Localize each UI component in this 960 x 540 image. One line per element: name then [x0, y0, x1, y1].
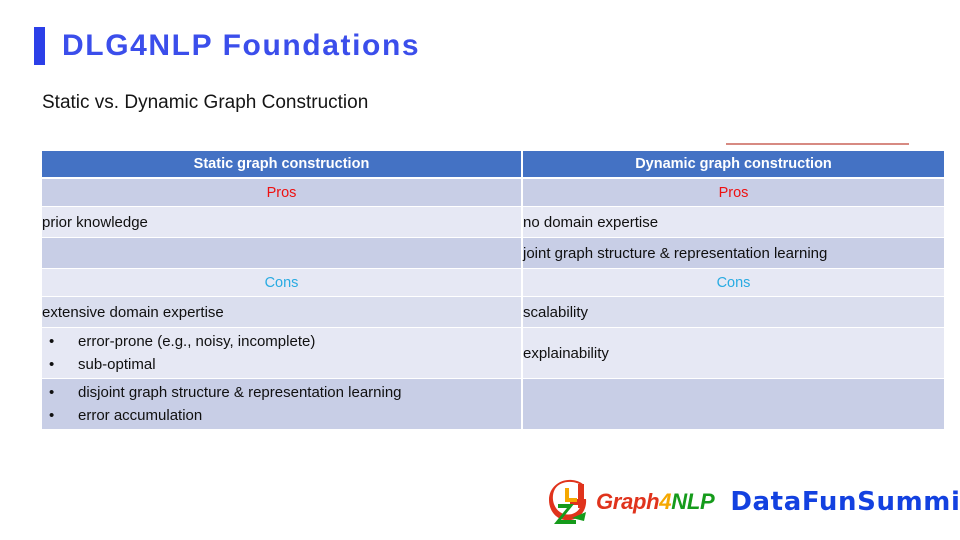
cell-static-cons-bullets-2: disjoint graph structure & representatio…	[42, 379, 522, 430]
pros-label-left: Pros	[42, 178, 522, 207]
cell-scalability: scalability	[522, 297, 944, 328]
graph4nlp-part-4: 4	[659, 489, 671, 514]
cell-extensive-domain-expertise: extensive domain expertise	[42, 297, 522, 328]
table-row: error-prone (e.g., noisy, incomplete) su…	[42, 328, 944, 379]
graph4nlp-logo-text: Graph4NLP	[596, 489, 714, 515]
table-row: Pros Pros	[42, 178, 944, 207]
decorative-line	[726, 143, 909, 145]
title-accent-bar	[34, 27, 45, 65]
datafunsummit-logo-text: DataFunSummit	[730, 487, 960, 517]
subtitle-text: Static vs. Dynamic Graph Construction	[42, 92, 368, 114]
page-title: DLG4NLP Foundations	[34, 27, 420, 65]
table-row: prior knowledge no domain expertise	[42, 207, 944, 238]
list-item: disjoint graph structure & representatio…	[42, 381, 521, 404]
cell-explainability: explainability	[522, 328, 944, 379]
list-item: error accumulation	[42, 404, 521, 427]
cell-empty-right	[522, 379, 944, 430]
graph4nlp-part-nlp: NLP	[671, 489, 714, 514]
list-item: error-prone (e.g., noisy, incomplete)	[42, 330, 521, 353]
table-row: joint graph structure & representation l…	[42, 238, 944, 269]
cell-prior-knowledge: prior knowledge	[42, 207, 522, 238]
cons-label-right: Cons	[522, 269, 944, 297]
table-row: Cons Cons	[42, 269, 944, 297]
table-row: extensive domain expertise scalability	[42, 297, 944, 328]
table-header-row: Static graph construction Dynamic graph …	[42, 151, 944, 178]
cell-empty-left	[42, 238, 522, 269]
header-cell-static: Static graph construction	[42, 151, 522, 178]
logo-area: Graph4NLP DataFunSummit	[548, 478, 960, 526]
cell-joint-graph-structure: joint graph structure & representation l…	[522, 238, 944, 269]
graph4nlp-part-graph: Graph	[596, 489, 659, 514]
comparison-table: Static graph construction Dynamic graph …	[42, 151, 944, 430]
cons-label-left: Cons	[42, 269, 522, 297]
cell-no-domain-expertise: no domain expertise	[522, 207, 944, 238]
cell-static-cons-bullets-1: error-prone (e.g., noisy, incomplete) su…	[42, 328, 522, 379]
table-row: disjoint graph structure & representatio…	[42, 379, 944, 430]
title-text: DLG4NLP Foundations	[62, 29, 420, 63]
graph4nlp-logo-icon	[548, 478, 592, 526]
list-item: sub-optimal	[42, 353, 521, 376]
header-cell-dynamic: Dynamic graph construction	[522, 151, 944, 178]
pros-label-right: Pros	[522, 178, 944, 207]
